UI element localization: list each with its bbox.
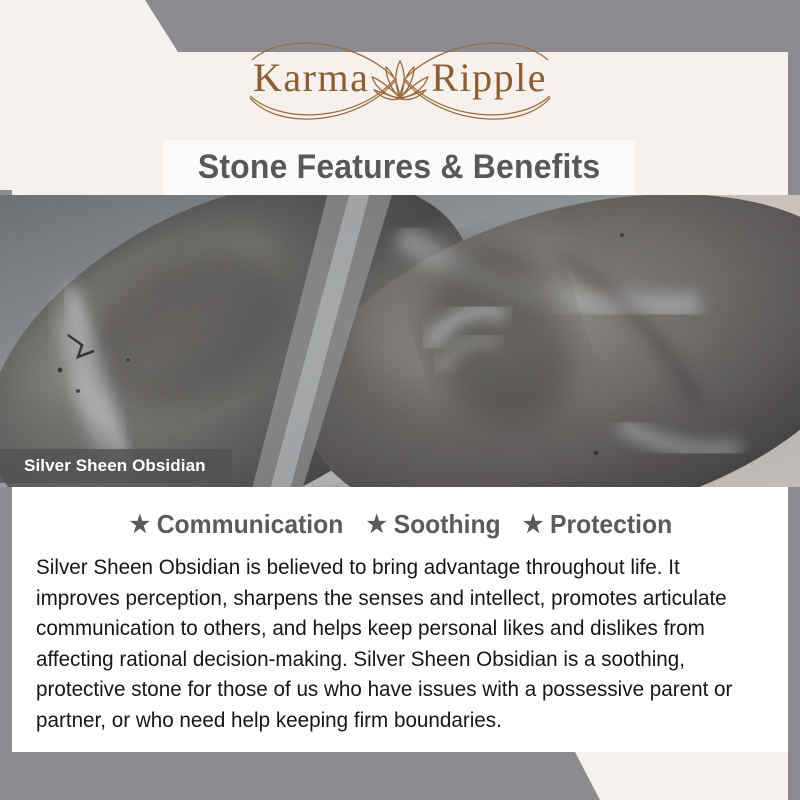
brand-logo: Karma Ripple <box>190 36 610 120</box>
star-icon: ★ <box>522 513 542 537</box>
photo-caption: Silver Sheen Obsidian <box>0 449 232 483</box>
keyword-item-soothing: ★ Soothing <box>367 509 501 540</box>
keyword-item-communication: ★ Communication <box>130 509 344 540</box>
stone-photo-image <box>0 195 800 487</box>
corner-decoration-bottom-left <box>0 752 800 800</box>
keyword-item-protection: ★ Protection <box>522 509 671 540</box>
lotus-icon <box>364 56 436 102</box>
keyword-label: Communication <box>157 509 344 540</box>
keyword-label: Soothing <box>394 509 501 540</box>
keyword-label: Protection <box>550 509 672 540</box>
photo-caption-label: Silver Sheen Obsidian <box>24 456 206 475</box>
star-icon: ★ <box>130 513 150 537</box>
content-panel: ★ Communication ★ Soothing ★ Protection … <box>12 487 788 752</box>
infographic-card: Karma Ripple Stone Features & Benefits <box>0 0 800 800</box>
brand-name-right: Ripple <box>431 54 547 101</box>
stone-photo: Silver Sheen Obsidian <box>0 195 800 487</box>
page-title: Stone Features & Benefits <box>198 148 601 187</box>
star-icon: ★ <box>367 513 387 537</box>
section-title-band: Stone Features & Benefits <box>163 140 635 195</box>
brand-name-left: Karma <box>253 54 369 101</box>
brand-header: Karma Ripple <box>0 0 800 133</box>
stone-description: Silver Sheen Obsidian is believed to bri… <box>36 552 763 735</box>
keyword-list: ★ Communication ★ Soothing ★ Protection <box>36 509 764 540</box>
